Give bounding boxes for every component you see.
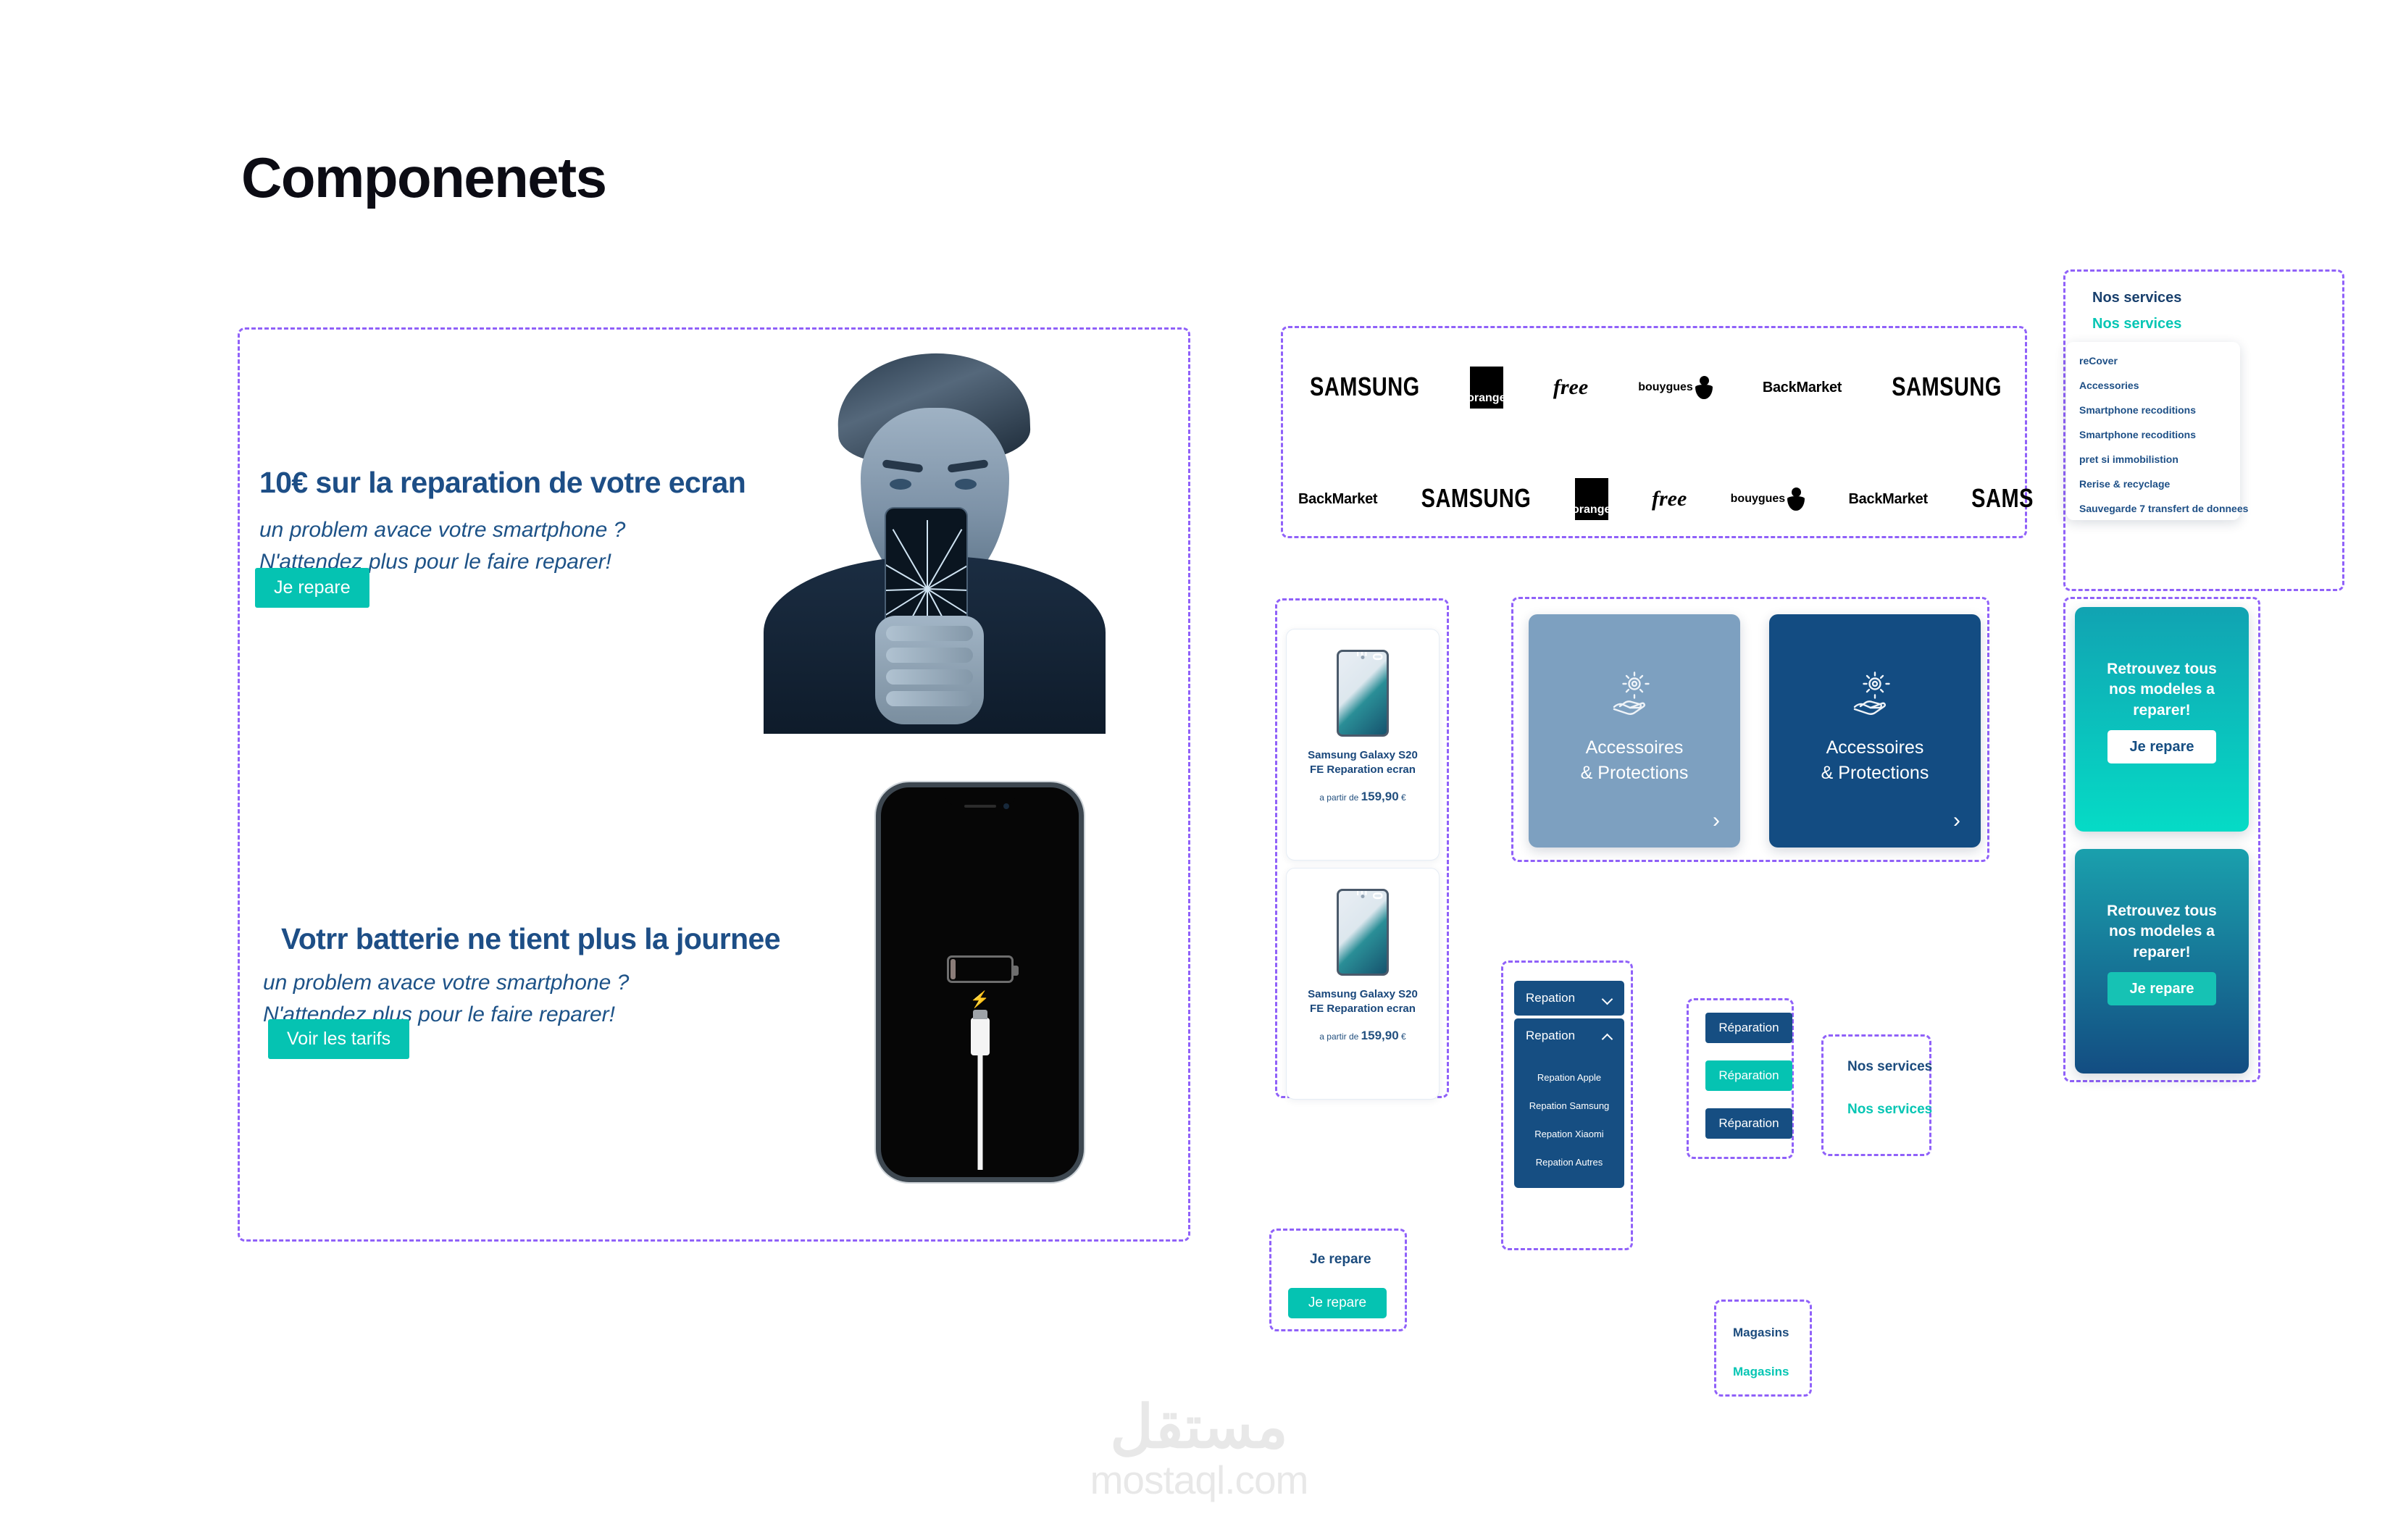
bouygues-logo: bouygues [1731,487,1805,511]
promo-card-teal[interactable]: Retrouvez tous nos modeles a reparer! Je… [2075,607,2249,832]
je-repare-button[interactable]: Je repare [2107,730,2216,763]
dropdown-closed[interactable]: Repation [1514,981,1624,1016]
backmarket-logo: BackMarket [1763,380,1842,396]
chevron-down-icon [1603,993,1613,1003]
menu-item-recover[interactable]: reCover [2079,355,2227,367]
product-card[interactable]: S20 FE Samsung Galaxy S20 FE Reparation … [1286,629,1440,861]
nos-services-link-active[interactable]: Nos services [1847,1102,1932,1118]
dropdown-option-apple[interactable]: Repation Apple [1514,1063,1624,1092]
product-price: a partir de 159,90 € [1287,1029,1439,1043]
chevron-right-icon[interactable]: › [1953,810,1960,832]
promo-card-blue[interactable]: Retrouvez tous nos modeles a reparer! Je… [2075,849,2249,1074]
canvas: Componenets 10€ sur la reparation de vot… [0,0,2398,1540]
menu-item-pret-immobilisation[interactable]: pret si immobilistion [2079,453,2227,465]
hero-subtitle-line1: un problem avace votre smartphone ? [263,971,629,995]
backmarket-logo: BackMarket [1298,491,1377,508]
nos-services-links-frame [1821,1034,1931,1156]
menu-item-reprise-recyclage[interactable]: Rerise & recyclage [2079,478,2227,490]
reparation-button-primary[interactable]: Réparation [1705,1013,1792,1043]
watermark: مستقل mostaql.com [0,1398,2398,1503]
category-card-accessoires-dark[interactable]: Accessoires& Protections › [1769,614,1981,848]
dropdown-option-xiaomi[interactable]: Repation Xiaomi [1514,1120,1624,1148]
magasins-link-active[interactable]: Magasins [1733,1365,1789,1379]
product-name: Samsung Galaxy S20 FE Reparation ecran [1287,748,1439,778]
menu-item-smartphone-reconditions[interactable]: Smartphone recoditions [2079,404,2227,416]
category-card-accessoires-light[interactable]: Accessoires& Protections › [1529,614,1740,848]
product-price: a partir de 159,90 € [1287,790,1439,804]
promo-text: Retrouvez tous nos modeles a reparer! [2075,659,2249,721]
hero-subtitle-line1: un problem avace votre smartphone ? [259,518,625,542]
battery-empty-icon [947,955,1014,983]
backmarket-logo: BackMarket [1849,491,1928,508]
menu-item-accessories[interactable]: Accessories [2079,380,2227,391]
dropdown-option-autres[interactable]: Repation Autres [1514,1148,1624,1176]
watermark-latin: mostaql.com [0,1457,2398,1503]
menu-item-sauvegarde-transfert[interactable]: Sauvegarde 7 transfert de donnees [2079,503,2227,514]
chevron-right-icon[interactable]: › [1713,810,1720,832]
samsung-logo: SAMSUNG [1310,372,1420,402]
voir-les-tarifs-button[interactable]: Voir les tarifs [268,1019,409,1059]
je-repare-button[interactable]: Je repare [255,568,369,608]
je-repare-button[interactable]: Je repare [1288,1288,1387,1318]
reparation-button-teal[interactable]: Réparation [1705,1060,1792,1091]
gear-in-hand-icon [1849,671,1901,716]
free-logo: free [1652,487,1687,511]
reparation-button-primary-2[interactable]: Réparation [1705,1108,1792,1139]
watermark-arabic: مستقل [0,1398,2398,1457]
magasins-link-default[interactable]: Magasins [1733,1326,1789,1340]
brand-logo-row-2: BackMarket SAMSUNG orange free bouygues … [1298,478,2034,520]
dropdown-open[interactable]: Repation [1514,1018,1624,1053]
menu-item-smartphone-reconditions-2[interactable]: Smartphone recoditions [2079,429,2227,440]
samsung-logo: SAMSUNG [1421,484,1532,514]
product-thumbnail-s20fe: S20 FE [1337,650,1389,737]
nos-services-link-default[interactable]: Nos services [1847,1059,1932,1075]
samsung-logo: SAMS [1971,484,2034,514]
services-dropdown-card: reCover Accessories Smartphone recoditio… [2066,342,2240,520]
gear-in-hand-icon [1608,671,1660,716]
promo-text: Retrouvez tous nos modeles a reparer! [2075,901,2249,963]
dropdown-label: Repation [1526,991,1575,1005]
bouygues-logo: bouygues [1638,376,1713,399]
je-repare-label: Je repare [1310,1252,1371,1268]
hero-title-screen: 10€ sur la reparation de votre ecran [259,466,745,500]
page-title: Componenets [241,145,606,211]
brand-logo-row-1: SAMSUNG orange free bouygues BackMarket … [1310,367,2002,409]
camera-icon [1003,803,1009,809]
product-name: Samsung Galaxy S20 FE Reparation ecran [1287,987,1439,1017]
free-logo: free [1553,375,1588,400]
hero-title-battery: Votrr batterie ne tient plus la journee [281,922,780,956]
speaker-icon [964,805,996,808]
product-thumbnail-s20fe: S20 FE [1337,889,1389,976]
services-menu-label-active[interactable]: Nos services [2092,316,2181,332]
charging-cable-icon [977,1055,982,1170]
category-label: Accessoires& Protections [1529,735,1740,785]
lightning-connector-icon [971,1018,990,1055]
category-label: Accessoires& Protections [1769,735,1981,785]
lightning-bolt-icon: ⚡ [970,992,990,1008]
dropdown-label: Repation [1526,1029,1575,1043]
samsung-logo: SAMSUNG [1892,372,2002,402]
chevron-up-icon [1603,1031,1613,1041]
orange-logo: orange [1470,367,1503,409]
dropdown-options-list: Repation Apple Repation Samsung Repation… [1514,1053,1624,1188]
dropdown-option-samsung[interactable]: Repation Samsung [1514,1092,1624,1120]
man-with-cracked-phone-photo [751,346,1119,734]
orange-logo: orange [1575,478,1608,520]
je-repare-button[interactable]: Je repare [2107,972,2216,1005]
phone-battery-mockup: ⚡ [876,782,1084,1182]
services-menu-label: Nos services [2092,290,2181,306]
product-card[interactable]: S20 FE Samsung Galaxy S20 FE Reparation … [1286,868,1440,1100]
magasins-group-frame [1714,1300,1812,1397]
